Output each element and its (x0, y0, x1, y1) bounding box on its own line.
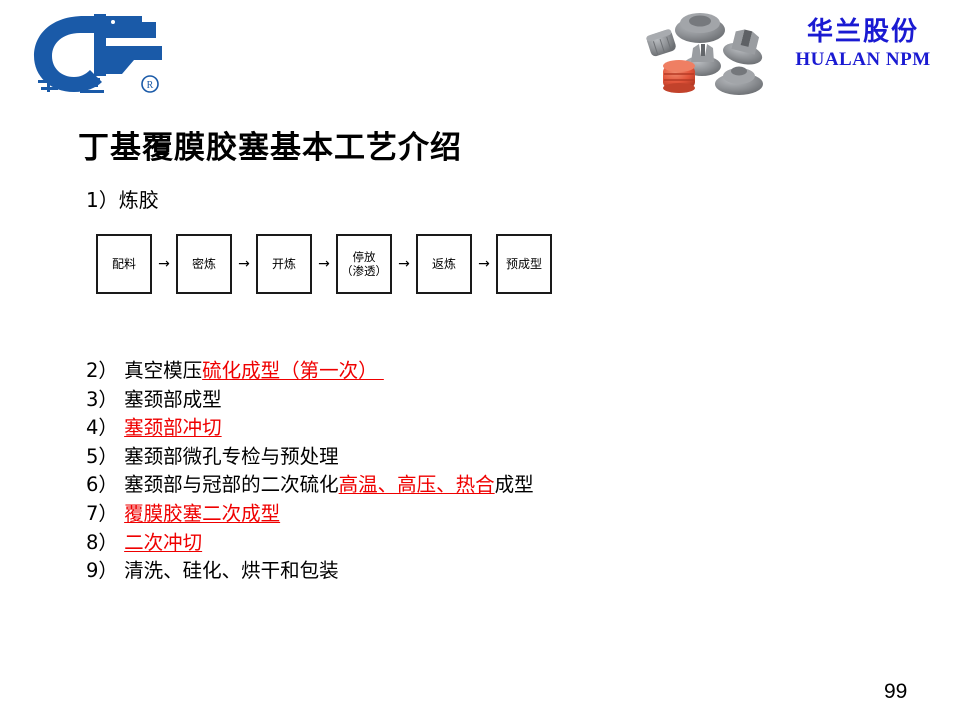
flow-arrow: → (152, 257, 176, 271)
flow-box: 预成型 (496, 234, 552, 294)
process-step-row: 9） 清洗、硅化、烘干和包装 (86, 557, 534, 586)
process-step-row: 7） 覆膜胶塞二次成型 (86, 500, 534, 529)
svg-text:R: R (147, 80, 154, 91)
flow-box-label: 返炼 (432, 257, 456, 271)
mixing-process-flowchart: 配料→密炼→开炼→停放（渗透）→返炼→预成型 (96, 233, 552, 295)
flow-box: 返炼 (416, 234, 472, 294)
flow-arrow: → (392, 257, 416, 271)
process-step-row: 3） 塞颈部成型 (86, 386, 534, 415)
flow-box: 配料 (96, 234, 152, 294)
step-number: 9） (86, 559, 124, 582)
flow-box-label: 预成型 (506, 257, 542, 271)
process-step-row: 6） 塞颈部与冠部的二次硫化高温、高压、热合成型 (86, 471, 534, 500)
step-number: 8） (86, 531, 124, 554)
step-number: 3） (86, 388, 124, 411)
step-text: 清洗、硅化、烘干和包装 (124, 559, 339, 582)
page-number: 99 (884, 680, 907, 704)
flow-arrow: → (232, 257, 256, 271)
page-title: 丁基覆膜胶塞基本工艺介绍 (78, 122, 462, 167)
step-number: 7） (86, 502, 124, 525)
step-number: 6） (86, 473, 124, 496)
process-step-list: 2） 真空模压硫化成型（第一次） 3） 塞颈部成型4） 塞颈部冲切5） 塞颈部微… (86, 357, 534, 586)
step-text: 塞颈部与冠部的二次硫化 (124, 473, 339, 496)
flow-box: 停放（渗透） (336, 234, 392, 294)
flow-box: 密炼 (176, 234, 232, 294)
step-number: 2） (86, 359, 124, 382)
step-number: 5） (86, 445, 124, 468)
step-number: 4） (86, 416, 124, 439)
flow-box: 开炼 (256, 234, 312, 294)
flow-box-label: 停放 (341, 250, 387, 264)
flow-box-label: 开炼 (272, 257, 296, 271)
process-step-row: 2） 真空模压硫化成型（第一次） (86, 357, 534, 386)
step-text-highlighted: 塞颈部冲切 (124, 416, 222, 439)
brand-name-en: HUALAN NPM (773, 48, 953, 72)
step-text: 真空模压 (124, 359, 202, 382)
process-step-row: 4） 塞颈部冲切 (86, 414, 534, 443)
step-text-highlighted: 覆膜胶塞二次成型 (124, 502, 280, 525)
flow-box-label: （渗透） (341, 264, 387, 278)
step-text-highlighted: 二次冲切 (124, 531, 202, 554)
rubber-stopper-photo (645, 8, 775, 100)
process-step-row: 8） 二次冲切 (86, 529, 534, 558)
step-1-label: 1）炼胶 (86, 184, 159, 213)
process-step-row: 5） 塞颈部微孔专检与预处理 (86, 443, 534, 472)
step-text: 塞颈部微孔专检与预处理 (124, 445, 339, 468)
flow-box-label: 配料 (112, 257, 136, 271)
flow-arrow: → (472, 257, 496, 271)
brand-lockup: 华兰股份 HUALAN NPM (773, 16, 953, 72)
step-text-highlighted: 硫化成型（第一次） (202, 359, 384, 382)
brand-name-cn: 华兰股份 (773, 16, 953, 48)
step-text: 成型 (495, 473, 534, 496)
step-text: 塞颈部成型 (124, 388, 222, 411)
flow-box-label: 密炼 (192, 257, 216, 271)
flow-arrow: → (312, 257, 336, 271)
slide-header: R (0, 0, 960, 104)
step-text-highlighted: 高温、高压、热合 (339, 473, 495, 496)
hualan-c-flag-logo-icon: R (22, 8, 172, 98)
slide-canvas: R (0, 0, 960, 720)
